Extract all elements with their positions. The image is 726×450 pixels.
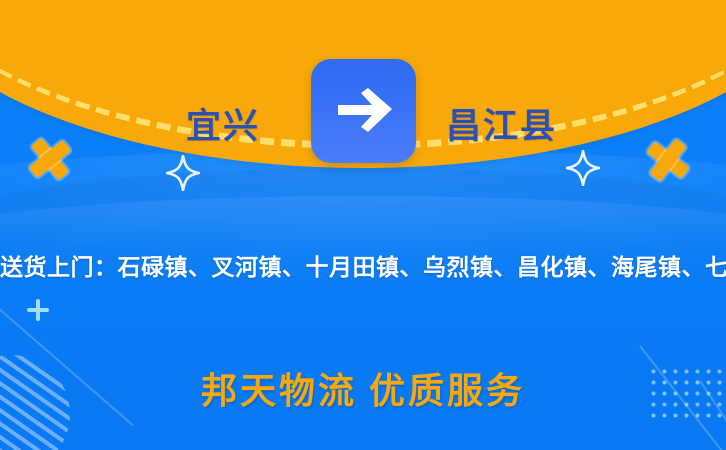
- direction-arrow-card: [311, 59, 416, 163]
- logistics-banner: 宜兴 昌江县 送货上门：石碌镇、叉河镇、十月田镇、乌烈镇、昌化镇、海尾镇、七叉镇…: [0, 0, 726, 450]
- x-cross-icon: [26, 135, 74, 183]
- plus-icon: [27, 299, 49, 321]
- four-point-star-icon: [166, 155, 200, 191]
- destination-city-label: 昌江县: [446, 98, 557, 149]
- x-cross-icon: [643, 135, 693, 185]
- four-point-star-icon: [566, 150, 600, 186]
- delivery-towns-line: 送货上门：石碌镇、叉河镇、十月田镇、乌烈镇、昌化镇、海尾镇、七叉镇: [0, 248, 726, 282]
- company-slogan: 邦天物流 优质服务: [0, 362, 726, 414]
- origin-city-label: 宜兴: [186, 98, 260, 149]
- blue-band-glow: [0, 150, 726, 320]
- arrow-right-icon: [334, 88, 394, 134]
